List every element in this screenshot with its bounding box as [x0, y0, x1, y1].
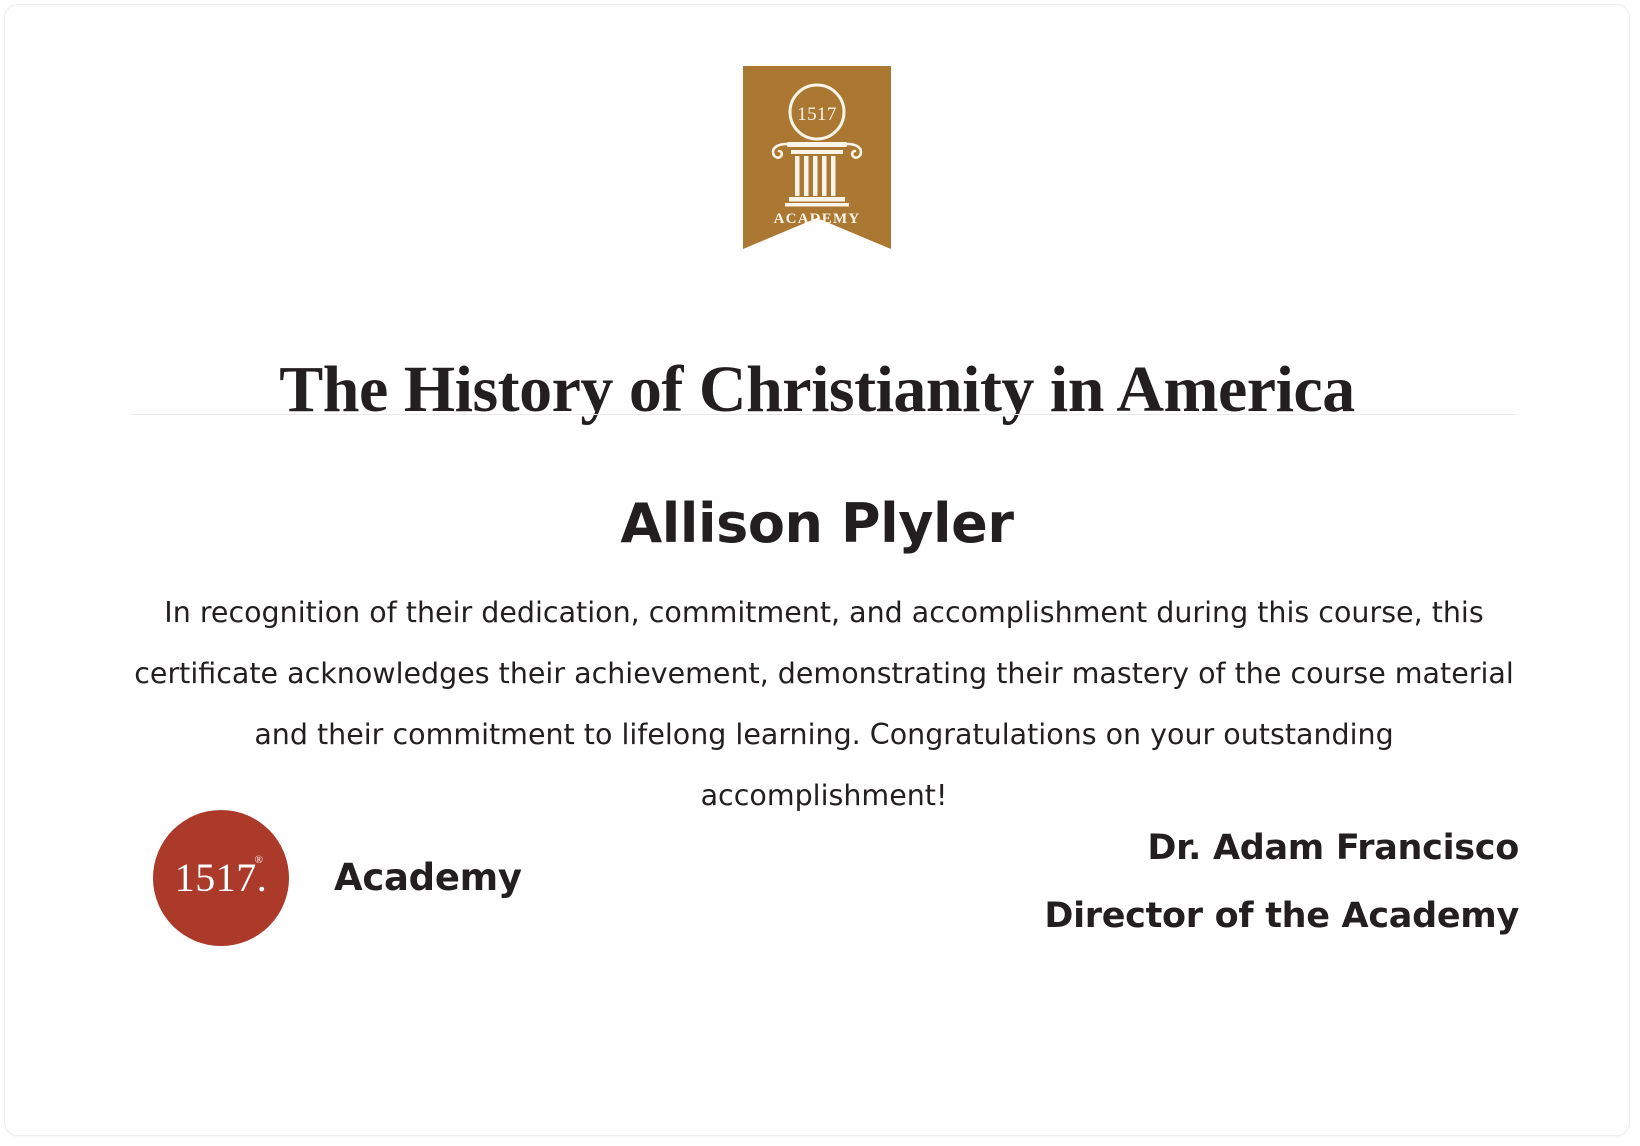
certificate-body-text: In recognition of their dedication, comm…: [129, 582, 1519, 826]
brand-label: Academy: [334, 856, 522, 900]
1517-badge-icon: 1517. ®: [153, 810, 289, 946]
title-divider: [130, 414, 1515, 415]
svg-text:ACADEMY: ACADEMY: [774, 211, 861, 227]
1517-academy-banner-logo: 1517 ACADEMY: [743, 66, 891, 249]
badge-text: 1517.: [175, 858, 268, 898]
signer-name: Dr. Adam Francisco: [1044, 814, 1519, 882]
svg-text:1517: 1517: [797, 104, 837, 125]
certificate-footer: 1517. ® Academy Dr. Adam Francisco Direc…: [129, 810, 1519, 970]
recipient-name: Allison Plyler: [5, 490, 1629, 558]
signer-role: Director of the Academy: [1044, 882, 1519, 950]
logo-banner-container: 1517 ACADEMY: [5, 66, 1629, 249]
badge-trademark-icon: ®: [255, 854, 263, 866]
certificate-card: 1517 ACADEMY The History of Christianity…: [4, 4, 1630, 1136]
course-title: The History of Christianity in America: [5, 351, 1629, 429]
signature-block: Dr. Adam Francisco Director of the Acade…: [1044, 814, 1519, 950]
brand-block: 1517. ® Academy: [153, 810, 522, 946]
